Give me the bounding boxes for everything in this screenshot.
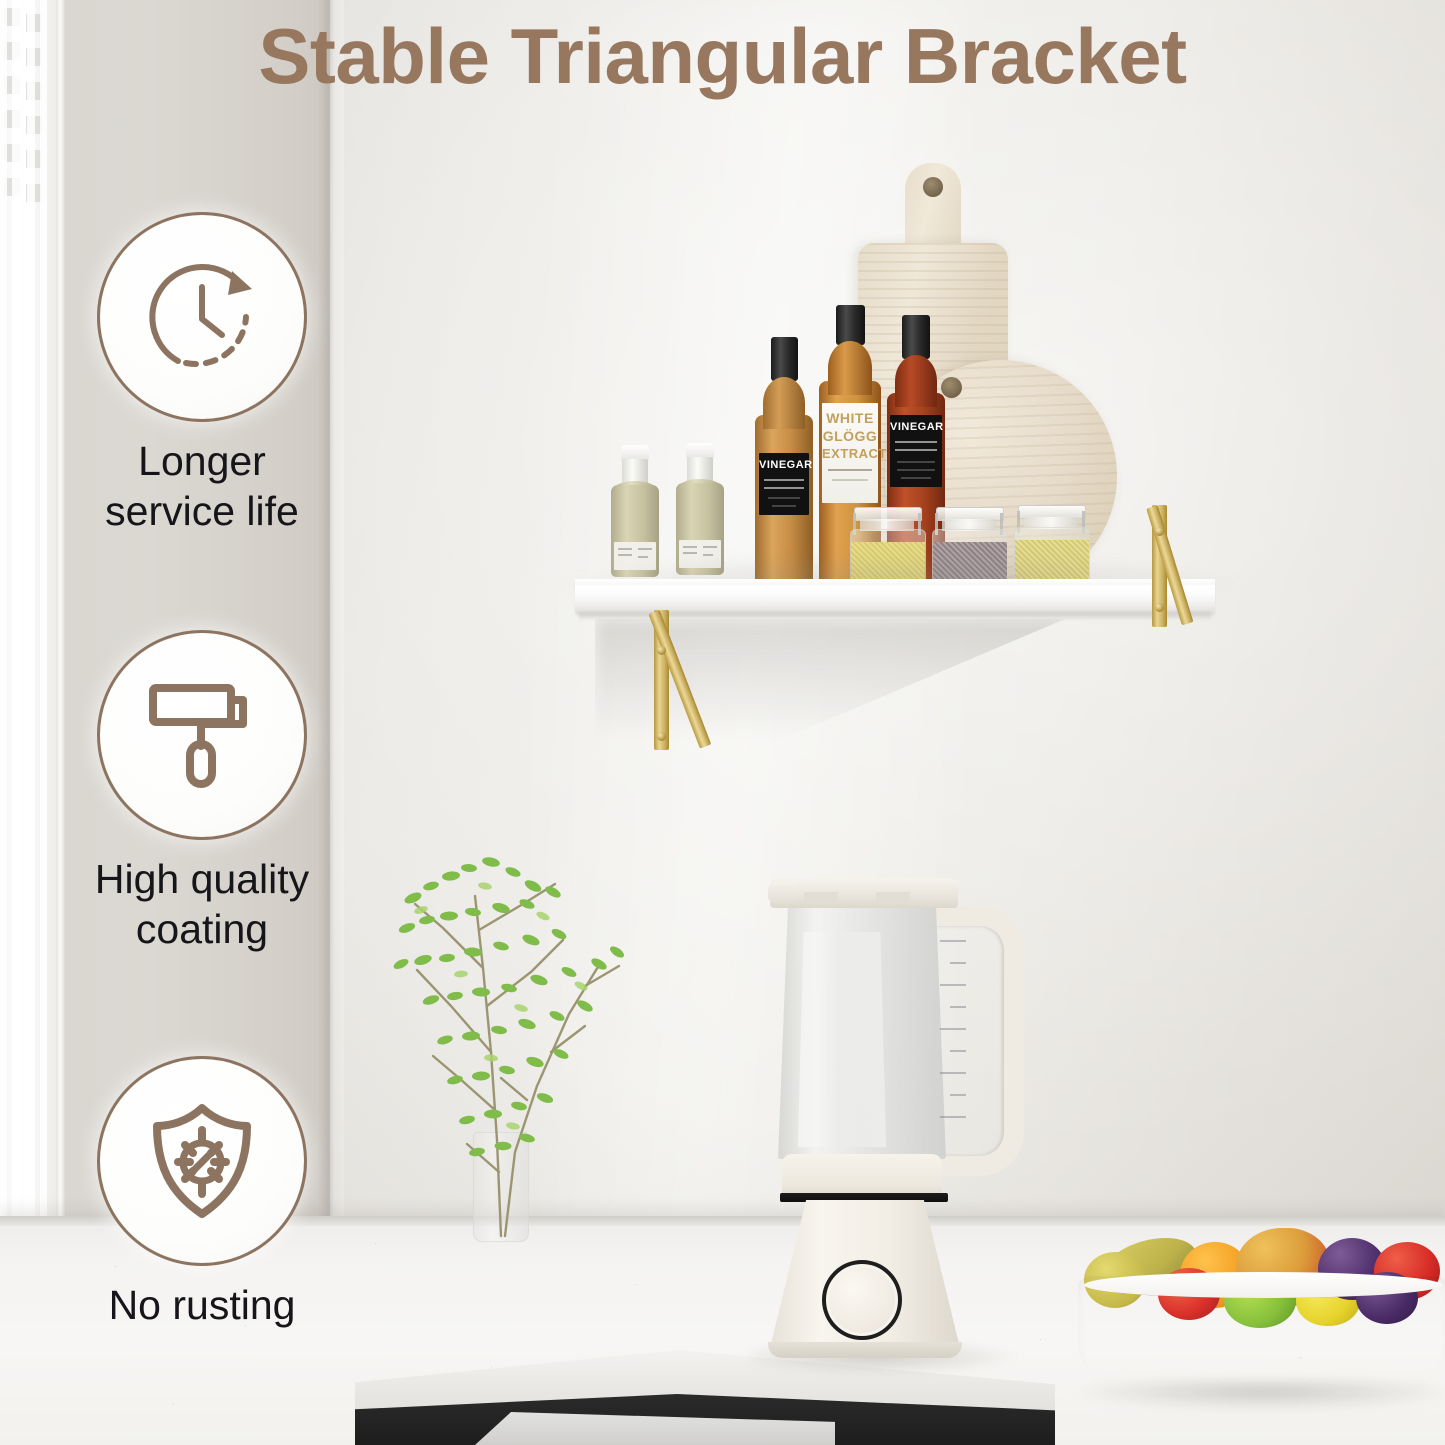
label-text: VINEGAR bbox=[890, 421, 942, 433]
clock-refresh-icon bbox=[136, 251, 268, 383]
feature-longer-service-life: Longer service life bbox=[52, 212, 352, 536]
product-lifestyle-image: VINEGAR WHITE GLÖGG EXTRACT bbox=[0, 0, 1445, 1445]
bracket-screw bbox=[657, 646, 666, 655]
paddle-board-hole bbox=[923, 177, 943, 197]
feature-label: No rusting bbox=[52, 1280, 352, 1330]
feature-label-line1: Longer bbox=[52, 436, 352, 486]
branch-plant bbox=[355, 800, 685, 1262]
bowl-rim bbox=[1084, 1272, 1442, 1298]
bottle-shoulder bbox=[828, 341, 872, 395]
feature-label: High quality coating bbox=[52, 854, 352, 954]
blender-measure-marks bbox=[924, 940, 966, 1120]
bottle-cap bbox=[771, 337, 798, 381]
bracket-screw bbox=[657, 732, 666, 741]
vinegar-bottle-1: VINEGAR bbox=[755, 337, 813, 589]
feature-icon-circle bbox=[97, 212, 307, 422]
bottle-shoulder bbox=[763, 377, 805, 429]
blender-lid-notch bbox=[804, 892, 838, 904]
bottle-shoulder bbox=[895, 355, 937, 407]
feature-no-rusting: No rusting bbox=[52, 1056, 352, 1330]
feature-label-line1: No rusting bbox=[52, 1280, 352, 1330]
feature-icon-circle bbox=[97, 630, 307, 840]
feature-label-line1: High quality bbox=[52, 854, 352, 904]
label-text: VINEGAR bbox=[759, 459, 809, 471]
shelf-underside bbox=[579, 612, 1211, 620]
feature-high-quality-coating: High quality coating bbox=[52, 630, 352, 954]
blender-lid-notch bbox=[876, 892, 910, 904]
fruit-bowl bbox=[1078, 1228, 1445, 1418]
blender-collar bbox=[782, 1154, 942, 1198]
bracket-screw bbox=[1155, 527, 1164, 536]
blender-foot bbox=[768, 1342, 962, 1358]
shield-no-rust-icon bbox=[139, 1098, 265, 1224]
blender-spout bbox=[768, 882, 796, 902]
feature-label-line2: service life bbox=[52, 486, 352, 536]
bottle-cap bbox=[902, 315, 930, 359]
plant-leaves bbox=[355, 800, 685, 1262]
feature-label: Longer service life bbox=[52, 436, 352, 536]
bracket-screw bbox=[1155, 603, 1164, 612]
bottle-cap bbox=[836, 305, 865, 345]
blender-control-knob[interactable] bbox=[822, 1260, 902, 1340]
bottle-label-vinegar-2: VINEGAR bbox=[890, 415, 942, 487]
paint-roller-icon bbox=[139, 672, 265, 798]
blender bbox=[760, 862, 1010, 1367]
label-text-line1: WHITE bbox=[822, 411, 878, 425]
feature-icon-circle bbox=[97, 1056, 307, 1266]
blender-pitcher-inner bbox=[794, 932, 890, 1147]
bottle-label-glogg: WHITE GLÖGG EXTRACT bbox=[822, 403, 878, 503]
shelf-top-highlight bbox=[575, 579, 1215, 585]
label-text-line3: EXTRACT bbox=[822, 447, 878, 460]
label-text-line2: GLÖGG bbox=[822, 429, 878, 443]
page-title: Stable Triangular Bracket bbox=[0, 16, 1445, 98]
bottle-label-vinegar: VINEGAR bbox=[759, 453, 809, 515]
wall-shelf: VINEGAR WHITE GLÖGG EXTRACT bbox=[575, 155, 1215, 730]
blender-lid[interactable] bbox=[770, 878, 958, 908]
feature-label-line2: coating bbox=[52, 904, 352, 954]
shelf-board bbox=[575, 580, 1215, 614]
